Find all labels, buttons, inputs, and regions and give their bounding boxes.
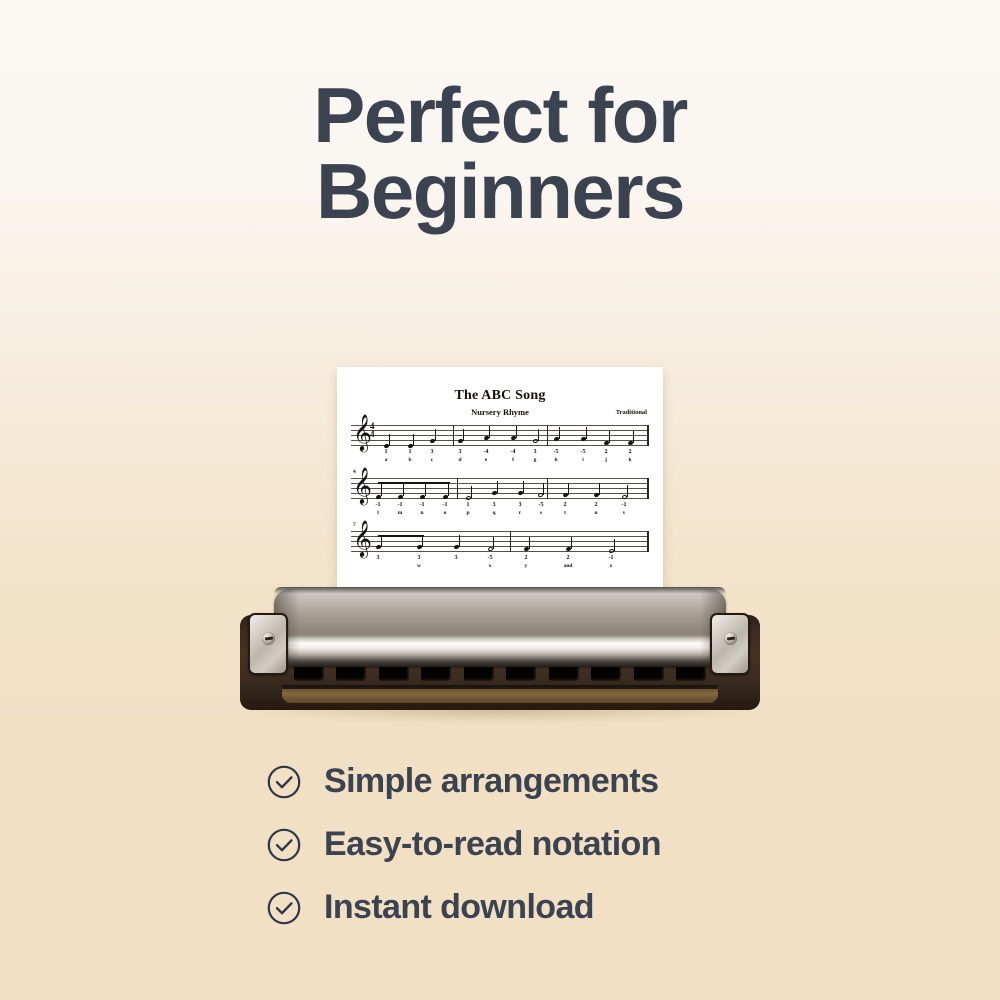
note-stem <box>599 483 600 495</box>
barline <box>547 425 548 446</box>
tab-column: -1z <box>603 554 619 570</box>
tab-column: 3d <box>452 448 468 464</box>
barline <box>457 478 458 499</box>
check-circle-icon <box>266 764 302 800</box>
feature-item-instant-download: Instant download <box>266 876 786 939</box>
check-circle-icon <box>266 890 302 926</box>
treble-clef-icon: 𝄞 <box>353 469 372 501</box>
staff-2: 𝄞 <box>351 478 649 499</box>
note-stem <box>614 539 615 551</box>
tab-column: -5i <box>575 448 591 464</box>
tab-column: -5x <box>482 554 498 570</box>
beam <box>378 535 424 537</box>
staff-line <box>351 531 649 532</box>
feature-label: Instant download <box>324 888 594 927</box>
tab-column: 1a <box>378 448 394 464</box>
note-stem <box>633 431 634 443</box>
staff-line <box>351 498 649 499</box>
barline <box>647 425 649 446</box>
staff-line <box>351 541 649 542</box>
note-stem <box>529 537 530 549</box>
note-stem <box>609 431 610 443</box>
note-stem <box>586 427 587 439</box>
note-stem <box>413 434 414 446</box>
note-stem <box>463 429 464 441</box>
tab-column: 3 <box>370 554 386 562</box>
sheet-music-title: The ABC Song <box>337 388 663 404</box>
staff-1: 𝄞 4 4 <box>351 425 649 446</box>
tab-column: 1p <box>460 501 476 517</box>
harmonica-product-image <box>232 585 768 725</box>
tab-column: 2j <box>598 448 614 464</box>
barline <box>510 531 511 552</box>
treble-clef-icon: 𝄞 <box>353 522 372 554</box>
note-stem <box>497 481 498 493</box>
note-stem <box>425 482 426 496</box>
tab-column: -1l <box>370 501 386 517</box>
note-stem <box>459 535 460 547</box>
feature-label: Simple arrangements <box>324 762 658 801</box>
feature-list: Simple arrangements Easy-to-read notatio… <box>266 750 786 939</box>
feature-item-easy-to-read-notation: Easy-to-read notation <box>266 813 786 876</box>
tab-column: 3 <box>448 554 464 562</box>
tab-column: 3c <box>424 448 440 464</box>
staff-line <box>351 546 649 547</box>
tab-column: -1v <box>616 501 632 517</box>
staff-line <box>351 493 649 494</box>
screw-icon <box>724 632 737 645</box>
harmonica-comb-lip <box>282 689 718 703</box>
music-system-2: 4 𝄞 <box>351 478 649 499</box>
music-system-3: 7 𝄞 <box>351 531 649 552</box>
staff-line <box>351 430 649 431</box>
screw-icon <box>262 632 275 645</box>
tab-column: -4e <box>478 448 494 464</box>
note-stem <box>516 426 517 438</box>
feature-label: Easy-to-read notation <box>324 825 661 864</box>
sheet-music-page: The ABC Song Nursery Rhyme Traditional 𝄞… <box>337 367 663 599</box>
tab-column: -1m <box>392 501 408 517</box>
note-stem <box>627 485 628 497</box>
headline-line-2: Beginners <box>0 154 1000 230</box>
promo-poster: Perfect for Beginners The ABC Song Nurse… <box>0 0 1000 1000</box>
tab-column: 1b <box>402 448 418 464</box>
note-stem <box>381 535 382 547</box>
note-stem <box>471 486 472 498</box>
barline <box>453 425 454 446</box>
staff-line <box>351 435 649 436</box>
tab-column: 2u <box>588 501 604 517</box>
tab-column: 3w <box>411 554 427 570</box>
tab-column: -5h <box>548 448 564 464</box>
barline <box>647 478 649 499</box>
music-system-1: 𝄞 4 4 <box>351 425 649 446</box>
staff-line <box>351 488 649 489</box>
note-stem <box>381 482 382 496</box>
note-stem <box>568 483 569 495</box>
harmonica-end-plate-left <box>248 613 288 675</box>
harmonica-end-plate-right <box>710 613 750 675</box>
note-stem <box>448 482 449 496</box>
headline-line-1: Perfect for <box>313 71 687 159</box>
note-stem <box>493 537 494 549</box>
note-stem <box>435 429 436 441</box>
page-title: Perfect for Beginners <box>0 78 1000 229</box>
tab-column: 3q <box>486 501 502 517</box>
staff-line <box>351 551 649 552</box>
beam <box>378 482 450 484</box>
sheet-music-composer: Traditional <box>616 409 647 416</box>
tab-column: 3r <box>512 501 528 517</box>
barline <box>547 478 548 499</box>
note-stem <box>523 481 524 493</box>
tab-column: -1n <box>414 501 430 517</box>
sheet-music-subtitle: Nursery Rhyme <box>337 407 663 417</box>
note-stem <box>422 535 423 547</box>
time-signature: 4 4 <box>370 422 375 438</box>
tab-column: 2y <box>518 554 534 570</box>
tab-column: -5s <box>533 501 549 517</box>
tab-column: 2and <box>560 554 576 570</box>
note-stem <box>543 483 544 495</box>
staff-3: 𝄞 <box>351 531 649 552</box>
note-stem <box>538 429 539 441</box>
note-stem <box>571 537 572 549</box>
staff-line <box>351 425 649 426</box>
note-stem <box>489 426 490 438</box>
note-stem <box>389 434 390 446</box>
check-circle-icon <box>266 827 302 863</box>
note-stem <box>559 427 560 439</box>
tab-column: 2k <box>622 448 638 464</box>
harmonica-cover-plate <box>274 587 726 667</box>
tab-column: 3g <box>527 448 543 464</box>
barline <box>647 531 649 552</box>
feature-item-simple-arrangements: Simple arrangements <box>266 750 786 813</box>
harmonica-cover-top-shading <box>274 587 726 594</box>
tab-column: 2t <box>557 501 573 517</box>
tab-column: -4f <box>505 448 521 464</box>
note-stem <box>403 482 404 496</box>
staff-line <box>351 478 649 479</box>
tab-column: -1o <box>437 501 453 517</box>
